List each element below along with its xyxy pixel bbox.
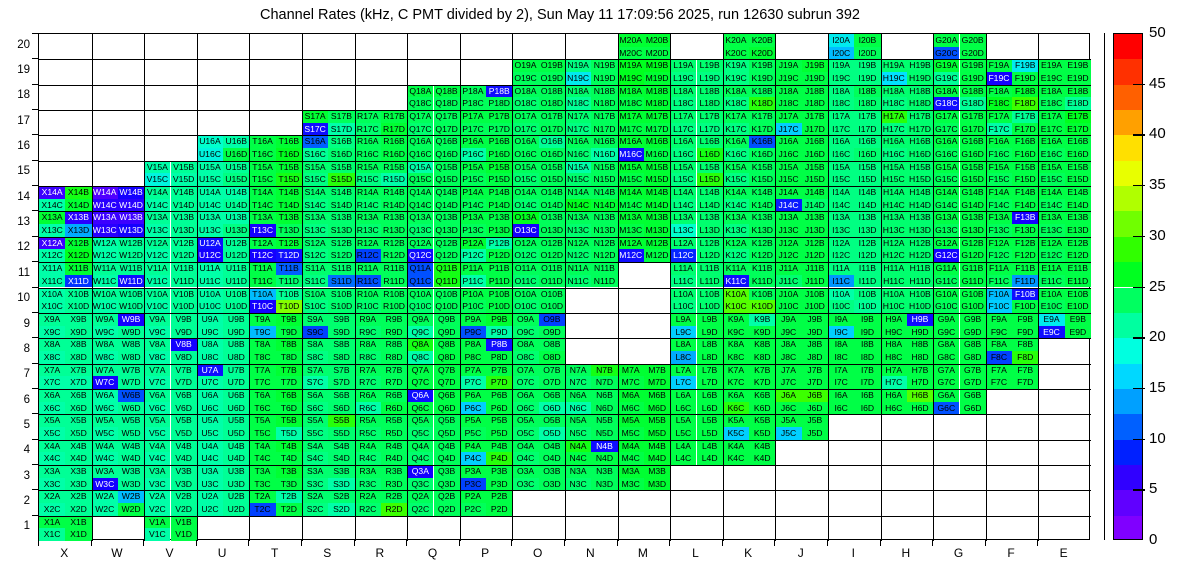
heatmap-subcell[interactable]: T3D	[276, 478, 302, 491]
heatmap-subcell[interactable]: G18B	[960, 85, 986, 98]
heatmap-subcell[interactable]: S11A	[302, 262, 328, 275]
heatmap-subcell[interactable]: P9A	[460, 313, 486, 326]
heatmap-subcell[interactable]: T11D	[276, 275, 302, 288]
heatmap-subcell[interactable]: I19A	[828, 59, 854, 72]
heatmap-subcell[interactable]: R3B	[381, 465, 407, 478]
heatmap-subcell[interactable]: R2A	[355, 490, 381, 503]
heatmap-subcell[interactable]: P4B	[486, 440, 512, 453]
heatmap-subcell[interactable]: K16A	[723, 135, 749, 148]
heatmap-subcell[interactable]: P14D	[486, 199, 512, 212]
heatmap-subcell[interactable]: M6D	[644, 402, 670, 415]
heatmap-subcell[interactable]: S14B	[328, 186, 354, 199]
heatmap-subcell[interactable]: I8C	[828, 351, 854, 364]
heatmap-subcell[interactable]: I11D	[854, 275, 880, 288]
heatmap-subcell[interactable]: V1C	[144, 528, 170, 541]
heatmap-subcell[interactable]: I6A	[828, 389, 854, 402]
heatmap-subcell[interactable]: L6A	[670, 389, 696, 402]
heatmap-subcell[interactable]: V9C	[144, 326, 170, 339]
heatmap-subcell[interactable]: Q10A	[407, 288, 433, 301]
heatmap-subcell[interactable]: R16A	[355, 135, 381, 148]
heatmap-subcell[interactable]: G9A	[933, 313, 959, 326]
heatmap-subcell[interactable]: F11A	[986, 262, 1012, 275]
heatmap-subcell[interactable]: K9B	[749, 313, 775, 326]
heatmap-subcell[interactable]: E19B	[1065, 59, 1091, 72]
heatmap-subcell[interactable]: W12A	[92, 237, 118, 250]
heatmap-subcell[interactable]: T9C	[249, 326, 275, 339]
heatmap-subcell[interactable]: R11B	[381, 262, 407, 275]
heatmap-subcell[interactable]: N17D	[591, 123, 617, 136]
heatmap-subcell[interactable]: V5B	[171, 414, 197, 427]
heatmap-subcell[interactable]: G19C	[933, 72, 959, 85]
heatmap-subcell[interactable]: I6D	[854, 402, 880, 415]
heatmap-subcell[interactable]: S7D	[328, 376, 354, 389]
heatmap-subcell[interactable]: K7B	[749, 364, 775, 377]
heatmap-subcell[interactable]: M3B	[644, 465, 670, 478]
heatmap-subcell[interactable]: M3C	[618, 478, 644, 491]
heatmap-subcell[interactable]: T3B	[276, 465, 302, 478]
heatmap-subcell[interactable]: U10B	[223, 288, 249, 301]
heatmap-subcell[interactable]: I13B	[854, 211, 880, 224]
heatmap-subcell[interactable]: Q9C	[407, 326, 433, 339]
heatmap-subcell[interactable]: M17B	[644, 110, 670, 123]
heatmap-subcell[interactable]: P16C	[460, 148, 486, 161]
heatmap-subcell[interactable]: S12A	[302, 237, 328, 250]
heatmap-subcell[interactable]: H7B	[907, 364, 933, 377]
heatmap-subcell[interactable]: W4D	[118, 452, 144, 465]
heatmap-subcell[interactable]: J16D	[802, 148, 828, 161]
heatmap-subcell[interactable]: Q15B	[434, 161, 460, 174]
heatmap-subcell[interactable]: X11B	[65, 262, 91, 275]
heatmap-subcell[interactable]: T4C	[249, 452, 275, 465]
heatmap-subcell[interactable]: H6A	[881, 389, 907, 402]
heatmap-subcell[interactable]: E14C	[1038, 199, 1064, 212]
heatmap-subcell[interactable]: Q6D	[434, 402, 460, 415]
heatmap-subcell[interactable]: E11D	[1065, 275, 1091, 288]
heatmap-subcell[interactable]: G6B	[960, 389, 986, 402]
heatmap-subcell[interactable]: S16D	[328, 148, 354, 161]
heatmap-subcell[interactable]: L16B	[697, 135, 723, 148]
heatmap-subcell[interactable]: V12D	[171, 249, 197, 262]
heatmap-subcell[interactable]: U5D	[223, 427, 249, 440]
heatmap-subcell[interactable]: Q7B	[434, 364, 460, 377]
heatmap-subcell[interactable]: M20D	[644, 47, 670, 60]
heatmap-subcell[interactable]: G9C	[933, 326, 959, 339]
heatmap-subcell[interactable]: H6D	[907, 402, 933, 415]
heatmap-subcell[interactable]: N13B	[591, 211, 617, 224]
heatmap-subcell[interactable]: K15B	[749, 161, 775, 174]
heatmap-subcell[interactable]: V8A	[144, 338, 170, 351]
heatmap-subcell[interactable]: V2C	[144, 503, 170, 516]
heatmap-subcell[interactable]: O3C	[512, 478, 538, 491]
heatmap-subcell[interactable]: F14C	[986, 199, 1012, 212]
heatmap-subcell[interactable]: Q16B	[434, 135, 460, 148]
heatmap-subcell[interactable]: R12D	[381, 249, 407, 262]
heatmap-subcell[interactable]: I19C	[828, 72, 854, 85]
heatmap-subcell[interactable]: E17B	[1065, 110, 1091, 123]
heatmap-subcell[interactable]: N17B	[591, 110, 617, 123]
heatmap-subcell[interactable]: R13C	[355, 224, 381, 237]
heatmap-subcell[interactable]: O18A	[512, 85, 538, 98]
heatmap-subcell[interactable]: V7B	[171, 364, 197, 377]
heatmap-subcell[interactable]: L13D	[697, 224, 723, 237]
heatmap-subcell[interactable]: J11C	[775, 275, 801, 288]
heatmap-subcell[interactable]: S8B	[328, 338, 354, 351]
heatmap-subcell[interactable]: E13C	[1038, 224, 1064, 237]
heatmap-subcell[interactable]: T8C	[249, 351, 275, 364]
heatmap-subcell[interactable]: K10D	[749, 300, 775, 313]
heatmap-subcell[interactable]: O4A	[512, 440, 538, 453]
heatmap-subcell[interactable]: Q10C	[407, 300, 433, 313]
heatmap-subcell[interactable]: M3A	[618, 465, 644, 478]
heatmap-subcell[interactable]: H16B	[907, 135, 933, 148]
heatmap-subcell[interactable]: F7D	[1012, 376, 1038, 389]
heatmap-subcell[interactable]: S6C	[302, 402, 328, 415]
heatmap-subcell[interactable]: T12B	[276, 237, 302, 250]
heatmap-subcell[interactable]: W11C	[92, 275, 118, 288]
heatmap-subcell[interactable]: J9A	[775, 313, 801, 326]
heatmap-subcell[interactable]: G8A	[933, 338, 959, 351]
heatmap-subcell[interactable]: M13A	[618, 211, 644, 224]
heatmap-subcell[interactable]: M4C	[618, 452, 644, 465]
heatmap-subcell[interactable]: W13B	[118, 211, 144, 224]
heatmap-subcell[interactable]: Q5D	[434, 427, 460, 440]
heatmap-subcell[interactable]: O3B	[539, 465, 565, 478]
heatmap-subcell[interactable]: X13D	[65, 224, 91, 237]
heatmap-subcell[interactable]: R7A	[355, 364, 381, 377]
heatmap-subcell[interactable]: O4B	[539, 440, 565, 453]
heatmap-subcell[interactable]: T12C	[249, 249, 275, 262]
heatmap-subcell[interactable]: X3D	[65, 478, 91, 491]
heatmap-subcell[interactable]: E15D	[1065, 173, 1091, 186]
heatmap-subcell[interactable]: V7D	[171, 376, 197, 389]
heatmap-subcell[interactable]: O13A	[512, 211, 538, 224]
heatmap-subcell[interactable]: T7D	[276, 376, 302, 389]
heatmap-subcell[interactable]: J7B	[802, 364, 828, 377]
heatmap-subcell[interactable]: R4D	[381, 452, 407, 465]
heatmap-subcell[interactable]: M4D	[644, 452, 670, 465]
heatmap-subcell[interactable]: I10D	[854, 300, 880, 313]
heatmap-subcell[interactable]: X7C	[39, 376, 65, 389]
heatmap-subcell[interactable]: X9D	[65, 326, 91, 339]
heatmap-subcell[interactable]: Q14A	[407, 186, 433, 199]
heatmap-subcell[interactable]: R8A	[355, 338, 381, 351]
heatmap-subcell[interactable]: S13C	[302, 224, 328, 237]
heatmap-subcell[interactable]: N3A	[565, 465, 591, 478]
heatmap-subcell[interactable]: T15B	[276, 161, 302, 174]
heatmap-subcell[interactable]: G6A	[933, 389, 959, 402]
heatmap-subcell[interactable]: I20D	[854, 47, 880, 60]
heatmap-subcell[interactable]: O19C	[512, 72, 538, 85]
heatmap-subcell[interactable]: H12A	[881, 237, 907, 250]
heatmap-subcell[interactable]: L12B	[697, 237, 723, 250]
heatmap-subcell[interactable]: M18D	[644, 97, 670, 110]
heatmap-subcell[interactable]: M13C	[618, 224, 644, 237]
heatmap-subcell[interactable]: R7D	[381, 376, 407, 389]
heatmap-subcell[interactable]: R7B	[381, 364, 407, 377]
heatmap-subcell[interactable]: K12C	[723, 249, 749, 262]
heatmap-subcell[interactable]: K4D	[749, 452, 775, 465]
heatmap-subcell[interactable]: S14D	[328, 199, 354, 212]
heatmap-subcell[interactable]: O5B	[539, 414, 565, 427]
heatmap-subcell[interactable]: O16B	[539, 135, 565, 148]
heatmap-subcell[interactable]: E15A	[1038, 161, 1064, 174]
heatmap-subcell[interactable]: K7D	[749, 376, 775, 389]
heatmap-subcell[interactable]: V2B	[171, 490, 197, 503]
heatmap-subcell[interactable]: R12C	[355, 249, 381, 262]
heatmap-subcell[interactable]: U8C	[197, 351, 223, 364]
heatmap-subcell[interactable]: P18A	[460, 85, 486, 98]
heatmap-subcell[interactable]: L6D	[697, 402, 723, 415]
heatmap-subcell[interactable]: T12A	[249, 237, 275, 250]
heatmap-subcell[interactable]: O14B	[539, 186, 565, 199]
heatmap-subcell[interactable]: K9C	[723, 326, 749, 339]
heatmap-subcell[interactable]: M6C	[618, 402, 644, 415]
heatmap-subcell[interactable]: O8D	[539, 351, 565, 364]
heatmap-subcell[interactable]: O8A	[512, 338, 538, 351]
heatmap-subcell[interactable]: R16C	[355, 148, 381, 161]
heatmap-subcell[interactable]: I10B	[854, 288, 880, 301]
heatmap-subcell[interactable]: P6A	[460, 389, 486, 402]
heatmap-subcell[interactable]: P18D	[486, 97, 512, 110]
heatmap-subcell[interactable]: W14A	[92, 186, 118, 199]
heatmap-subcell[interactable]: S12D	[328, 249, 354, 262]
heatmap-subcell[interactable]: T6C	[249, 402, 275, 415]
heatmap-subcell[interactable]: E13B	[1065, 211, 1091, 224]
heatmap-subcell[interactable]: J6A	[775, 389, 801, 402]
heatmap-subcell[interactable]: S4D	[328, 452, 354, 465]
heatmap-subcell[interactable]: Q17B	[434, 110, 460, 123]
heatmap-subcell[interactable]: X12A	[39, 237, 65, 250]
heatmap-subcell[interactable]: W11A	[92, 262, 118, 275]
heatmap-subcell[interactable]: F19A	[986, 59, 1012, 72]
heatmap-subcell[interactable]: M4A	[618, 440, 644, 453]
heatmap-subcell[interactable]: O9B	[539, 313, 565, 326]
heatmap-subcell[interactable]: Q6C	[407, 402, 433, 415]
heatmap-subcell[interactable]: L12A	[670, 237, 696, 250]
heatmap-subcell[interactable]: T2C	[249, 503, 275, 516]
heatmap-subcell[interactable]: E17C	[1038, 123, 1064, 136]
heatmap-subcell[interactable]: F7B	[1012, 364, 1038, 377]
heatmap-subcell[interactable]: P5A	[460, 414, 486, 427]
heatmap-subcell[interactable]: L19C	[670, 72, 696, 85]
heatmap-subcell[interactable]: J12C	[775, 249, 801, 262]
heatmap-subcell[interactable]: W10B	[118, 288, 144, 301]
heatmap-subcell[interactable]: N11D	[591, 275, 617, 288]
heatmap-subcell[interactable]: W11D	[118, 275, 144, 288]
heatmap-subcell[interactable]: K5C	[723, 427, 749, 440]
heatmap-subcell[interactable]: K7C	[723, 376, 749, 389]
heatmap-subcell[interactable]: K16B	[749, 135, 775, 148]
heatmap-subcell[interactable]: T11A	[249, 262, 275, 275]
heatmap-subcell[interactable]: R10D	[381, 300, 407, 313]
heatmap-subcell[interactable]: P8B	[486, 338, 512, 351]
heatmap-subcell[interactable]: X5C	[39, 427, 65, 440]
heatmap-subcell[interactable]: W10A	[92, 288, 118, 301]
heatmap-subcell[interactable]: G12C	[933, 249, 959, 262]
heatmap-subcell[interactable]: W7A	[92, 364, 118, 377]
heatmap-subcell[interactable]: J14C	[775, 199, 801, 212]
heatmap-subcell[interactable]: P3A	[460, 465, 486, 478]
heatmap-subcell[interactable]: S7A	[302, 364, 328, 377]
heatmap-subcell[interactable]: W9D	[118, 326, 144, 339]
heatmap-subcell[interactable]: X8C	[39, 351, 65, 364]
heatmap-subcell[interactable]: W5A	[92, 414, 118, 427]
heatmap-subcell[interactable]: X14D	[65, 199, 91, 212]
heatmap-subcell[interactable]: E9C	[1038, 326, 1064, 339]
heatmap-subcell[interactable]: N6C	[565, 402, 591, 415]
heatmap-subcell[interactable]: J5B	[802, 414, 828, 427]
heatmap-subcell[interactable]: S2D	[328, 503, 354, 516]
heatmap-subcell[interactable]: Q8A	[407, 338, 433, 351]
heatmap-subcell[interactable]: J9B	[802, 313, 828, 326]
heatmap-subcell[interactable]: T7B	[276, 364, 302, 377]
heatmap-subcell[interactable]: O6D	[539, 402, 565, 415]
heatmap-subcell[interactable]: H18A	[881, 85, 907, 98]
heatmap-subcell[interactable]: S10B	[328, 288, 354, 301]
heatmap-subcell[interactable]: W7D	[118, 376, 144, 389]
heatmap-subcell[interactable]: F18A	[986, 85, 1012, 98]
heatmap-subcell[interactable]: U9B	[223, 313, 249, 326]
heatmap-subcell[interactable]: U12C	[197, 249, 223, 262]
heatmap-subcell[interactable]: F17D	[1012, 123, 1038, 136]
heatmap-subcell[interactable]: F9B	[1012, 313, 1038, 326]
heatmap-subcell[interactable]: S10A	[302, 288, 328, 301]
heatmap-subcell[interactable]: M16C	[618, 148, 644, 161]
heatmap-subcell[interactable]: X9C	[39, 326, 65, 339]
heatmap-subcell[interactable]: R15A	[355, 161, 381, 174]
heatmap-subcell[interactable]: L11D	[697, 275, 723, 288]
heatmap-subcell[interactable]: R6B	[381, 389, 407, 402]
heatmap-subcell[interactable]: W11B	[118, 262, 144, 275]
heatmap-subcell[interactable]: R12B	[381, 237, 407, 250]
heatmap-subcell[interactable]: P11C	[460, 275, 486, 288]
heatmap-subcell[interactable]: Q6A	[407, 389, 433, 402]
heatmap-subcell[interactable]: E16C	[1038, 148, 1064, 161]
heatmap-subcell[interactable]: N16D	[591, 148, 617, 161]
heatmap-subcell[interactable]: P6C	[460, 402, 486, 415]
heatmap-subcell[interactable]: K17A	[723, 110, 749, 123]
heatmap-subcell[interactable]: Q5A	[407, 414, 433, 427]
heatmap-subcell[interactable]: L8A	[670, 338, 696, 351]
heatmap-subcell[interactable]: S17A	[302, 110, 328, 123]
heatmap-subcell[interactable]: I16D	[854, 148, 880, 161]
heatmap-subcell[interactable]: O19B	[539, 59, 565, 72]
heatmap-subcell[interactable]: F15C	[986, 173, 1012, 186]
heatmap-subcell[interactable]: J19D	[802, 72, 828, 85]
heatmap-subcell[interactable]: X4A	[39, 440, 65, 453]
heatmap-subcell[interactable]: J7D	[802, 376, 828, 389]
heatmap-subcell[interactable]: M19B	[644, 59, 670, 72]
heatmap-subcell[interactable]: M20B	[644, 34, 670, 47]
heatmap-subcell[interactable]: V4B	[171, 440, 197, 453]
heatmap-subcell[interactable]: P17A	[460, 110, 486, 123]
heatmap-subcell[interactable]: L16C	[670, 148, 696, 161]
heatmap-subcell[interactable]: U11B	[223, 262, 249, 275]
heatmap-subcell[interactable]: U10A	[197, 288, 223, 301]
heatmap-subcell[interactable]: V10D	[171, 300, 197, 313]
heatmap-subcell[interactable]: Q2A	[407, 490, 433, 503]
heatmap-subcell[interactable]: J11A	[775, 262, 801, 275]
heatmap-subcell[interactable]: K15D	[749, 173, 775, 186]
heatmap-subcell[interactable]: E9B	[1065, 313, 1091, 326]
heatmap-subcell[interactable]: P11B	[486, 262, 512, 275]
heatmap-subcell[interactable]: J13C	[775, 224, 801, 237]
heatmap-subcell[interactable]: F10D	[1012, 300, 1038, 313]
heatmap-subcell[interactable]: K6C	[723, 402, 749, 415]
heatmap-subcell[interactable]: N14B	[591, 186, 617, 199]
heatmap-subcell[interactable]: N6B	[591, 389, 617, 402]
heatmap-subcell[interactable]: X2C	[39, 503, 65, 516]
heatmap-subcell[interactable]: T16A	[249, 135, 275, 148]
heatmap-subcell[interactable]: I20C	[828, 47, 854, 60]
heatmap-subcell[interactable]: Q4A	[407, 440, 433, 453]
heatmap-subcell[interactable]: O12C	[512, 249, 538, 262]
heatmap-subcell[interactable]: W8C	[92, 351, 118, 364]
heatmap-subcell[interactable]: N18A	[565, 85, 591, 98]
heatmap-subcell[interactable]: W2A	[92, 490, 118, 503]
heatmap-subcell[interactable]: V3D	[171, 478, 197, 491]
heatmap-subcell[interactable]: O4C	[512, 452, 538, 465]
heatmap-subcell[interactable]: I15D	[854, 173, 880, 186]
heatmap-subcell[interactable]: N12A	[565, 237, 591, 250]
heatmap-subcell[interactable]: Q3A	[407, 465, 433, 478]
heatmap-subcell[interactable]: L9C	[670, 326, 696, 339]
heatmap-subcell[interactable]: G17B	[960, 110, 986, 123]
heatmap-subcell[interactable]: P12D	[486, 249, 512, 262]
heatmap-subcell[interactable]: X11A	[39, 262, 65, 275]
heatmap-subcell[interactable]: E10B	[1065, 288, 1091, 301]
heatmap-subcell[interactable]: O16A	[512, 135, 538, 148]
heatmap-subcell[interactable]: R6C	[355, 402, 381, 415]
heatmap-subcell[interactable]: M14B	[644, 186, 670, 199]
heatmap-subcell[interactable]: X4C	[39, 452, 65, 465]
heatmap-subcell[interactable]: K16C	[723, 148, 749, 161]
heatmap-subcell[interactable]: E13A	[1038, 211, 1064, 224]
heatmap-subcell[interactable]: P13D	[486, 224, 512, 237]
heatmap-subcell[interactable]: V11A	[144, 262, 170, 275]
heatmap-subcell[interactable]: L11B	[697, 262, 723, 275]
heatmap-subcell[interactable]: V9D	[171, 326, 197, 339]
heatmap-subcell[interactable]: E17A	[1038, 110, 1064, 123]
heatmap-subcell[interactable]: Q18C	[407, 97, 433, 110]
heatmap-subcell[interactable]: R2B	[381, 490, 407, 503]
heatmap-subcell[interactable]: G14A	[933, 186, 959, 199]
heatmap-subcell[interactable]: U12B	[223, 237, 249, 250]
heatmap-subcell[interactable]: W14D	[118, 199, 144, 212]
heatmap-subcell[interactable]: W9C	[92, 326, 118, 339]
heatmap-subcell[interactable]: S16B	[328, 135, 354, 148]
heatmap-subcell[interactable]: J10C	[775, 300, 801, 313]
heatmap-subcell[interactable]: P10C	[460, 300, 486, 313]
heatmap-subcell[interactable]: F17C	[986, 123, 1012, 136]
heatmap-subcell[interactable]: H10C	[881, 300, 907, 313]
heatmap-subcell[interactable]: N12B	[591, 237, 617, 250]
heatmap-subcell[interactable]: P17D	[486, 123, 512, 136]
heatmap-subcell[interactable]: S14A	[302, 186, 328, 199]
heatmap-subcell[interactable]: H6C	[881, 402, 907, 415]
heatmap-subcell[interactable]: W4B	[118, 440, 144, 453]
heatmap-subcell[interactable]: T14B	[276, 186, 302, 199]
heatmap-subcell[interactable]: K18A	[723, 85, 749, 98]
heatmap-subcell[interactable]: U13B	[223, 211, 249, 224]
heatmap-subcell[interactable]: O19A	[512, 59, 538, 72]
heatmap-subcell[interactable]: J19B	[802, 59, 828, 72]
heatmap-subcell[interactable]: X6A	[39, 389, 65, 402]
heatmap-subcell[interactable]: I17C	[828, 123, 854, 136]
heatmap-subcell[interactable]: T6D	[276, 402, 302, 415]
heatmap-subcell[interactable]: L4C	[670, 452, 696, 465]
heatmap-subcell[interactable]: V9A	[144, 313, 170, 326]
